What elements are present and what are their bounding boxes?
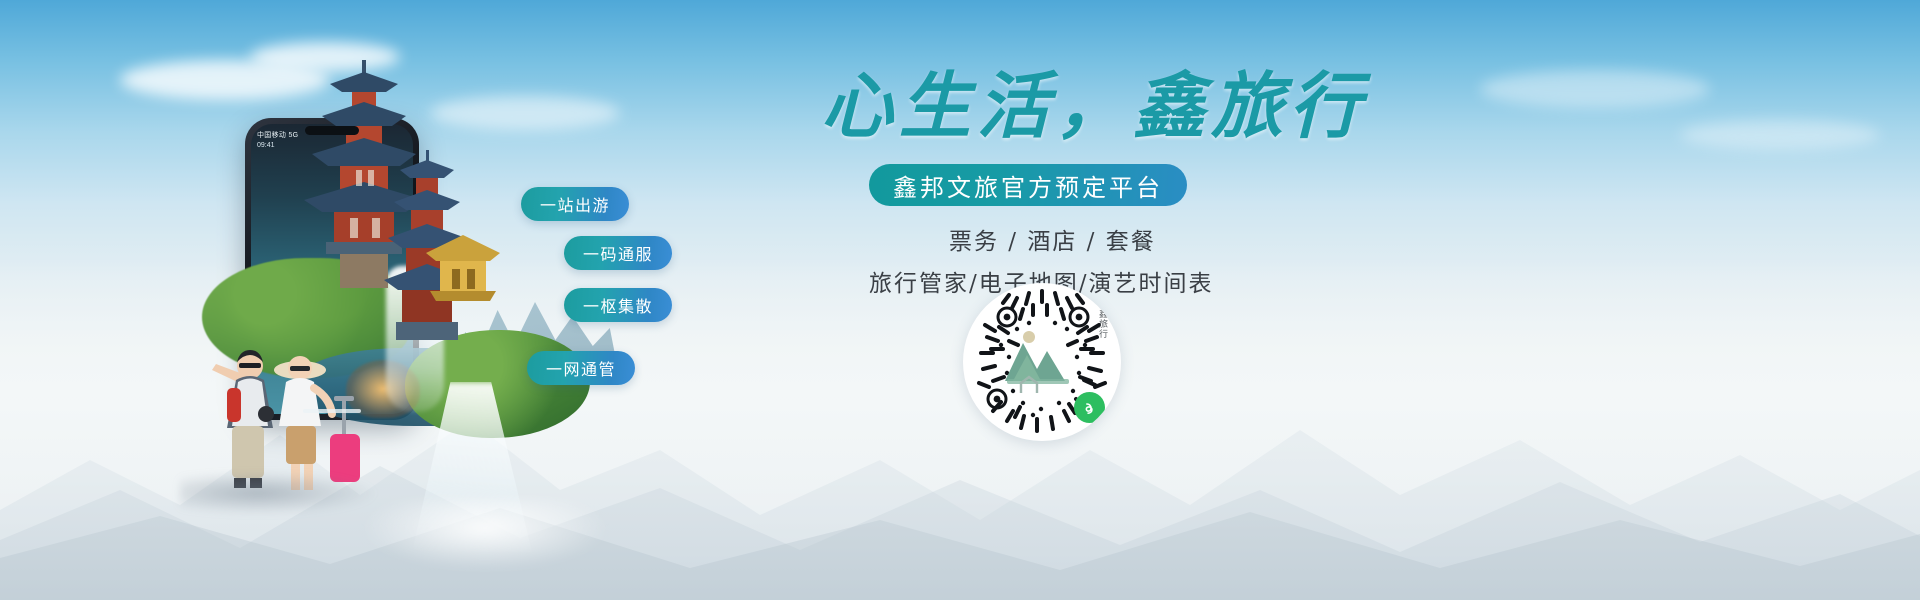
- golden-shrine-landmark: [420, 225, 506, 311]
- feature-pill-one-stop-travel[interactable]: 一站出游: [521, 187, 629, 221]
- wechat-miniprogram-icon: [1074, 392, 1105, 423]
- travel-promo-banner: 中国移动 5G 09:41: [0, 0, 1920, 600]
- banner-headline: 心生活，鑫旅行: [815, 70, 1515, 142]
- feature-pill-label: 一站出游: [540, 192, 610, 216]
- service-subtitle-line-1: 票务 / 酒店 / 套餐: [949, 222, 1515, 256]
- phone-status-text: 中国移动 5G: [257, 130, 298, 140]
- qr-center-logo: [1003, 329, 1081, 395]
- feature-pill-label: 一枢集散: [583, 293, 653, 317]
- phone-notch: [305, 126, 359, 135]
- feature-pill-label: 一码通服: [583, 241, 653, 265]
- phone-time-text: 09:41: [257, 142, 275, 149]
- feature-pill-one-network-management[interactable]: 一网通管: [527, 351, 635, 385]
- wechat-miniprogram-qr-code[interactable]: 鑫旅行: [963, 283, 1121, 441]
- ground-shadow: [180, 472, 375, 514]
- phone-home-indicator: [303, 409, 361, 413]
- cloud-decoration: [1680, 120, 1880, 150]
- feature-pill-one-hub-transfer[interactable]: 一枢集散: [564, 288, 672, 322]
- banner-copy-block: 心生活，鑫旅行 鑫邦文旅官方预定平台 票务 / 酒店 / 套餐 旅行管家/电子地…: [815, 70, 1515, 298]
- water-spray: [360, 500, 610, 570]
- feature-pill-one-code-service[interactable]: 一码通服: [564, 236, 672, 270]
- official-platform-badge: 鑫邦文旅官方预定平台: [869, 164, 1187, 206]
- qr-brand-label: 鑫旅行: [1096, 309, 1107, 339]
- phone-scenery-collage: 中国移动 5G 09:41: [150, 30, 770, 570]
- feature-pill-label: 一网通管: [546, 356, 616, 380]
